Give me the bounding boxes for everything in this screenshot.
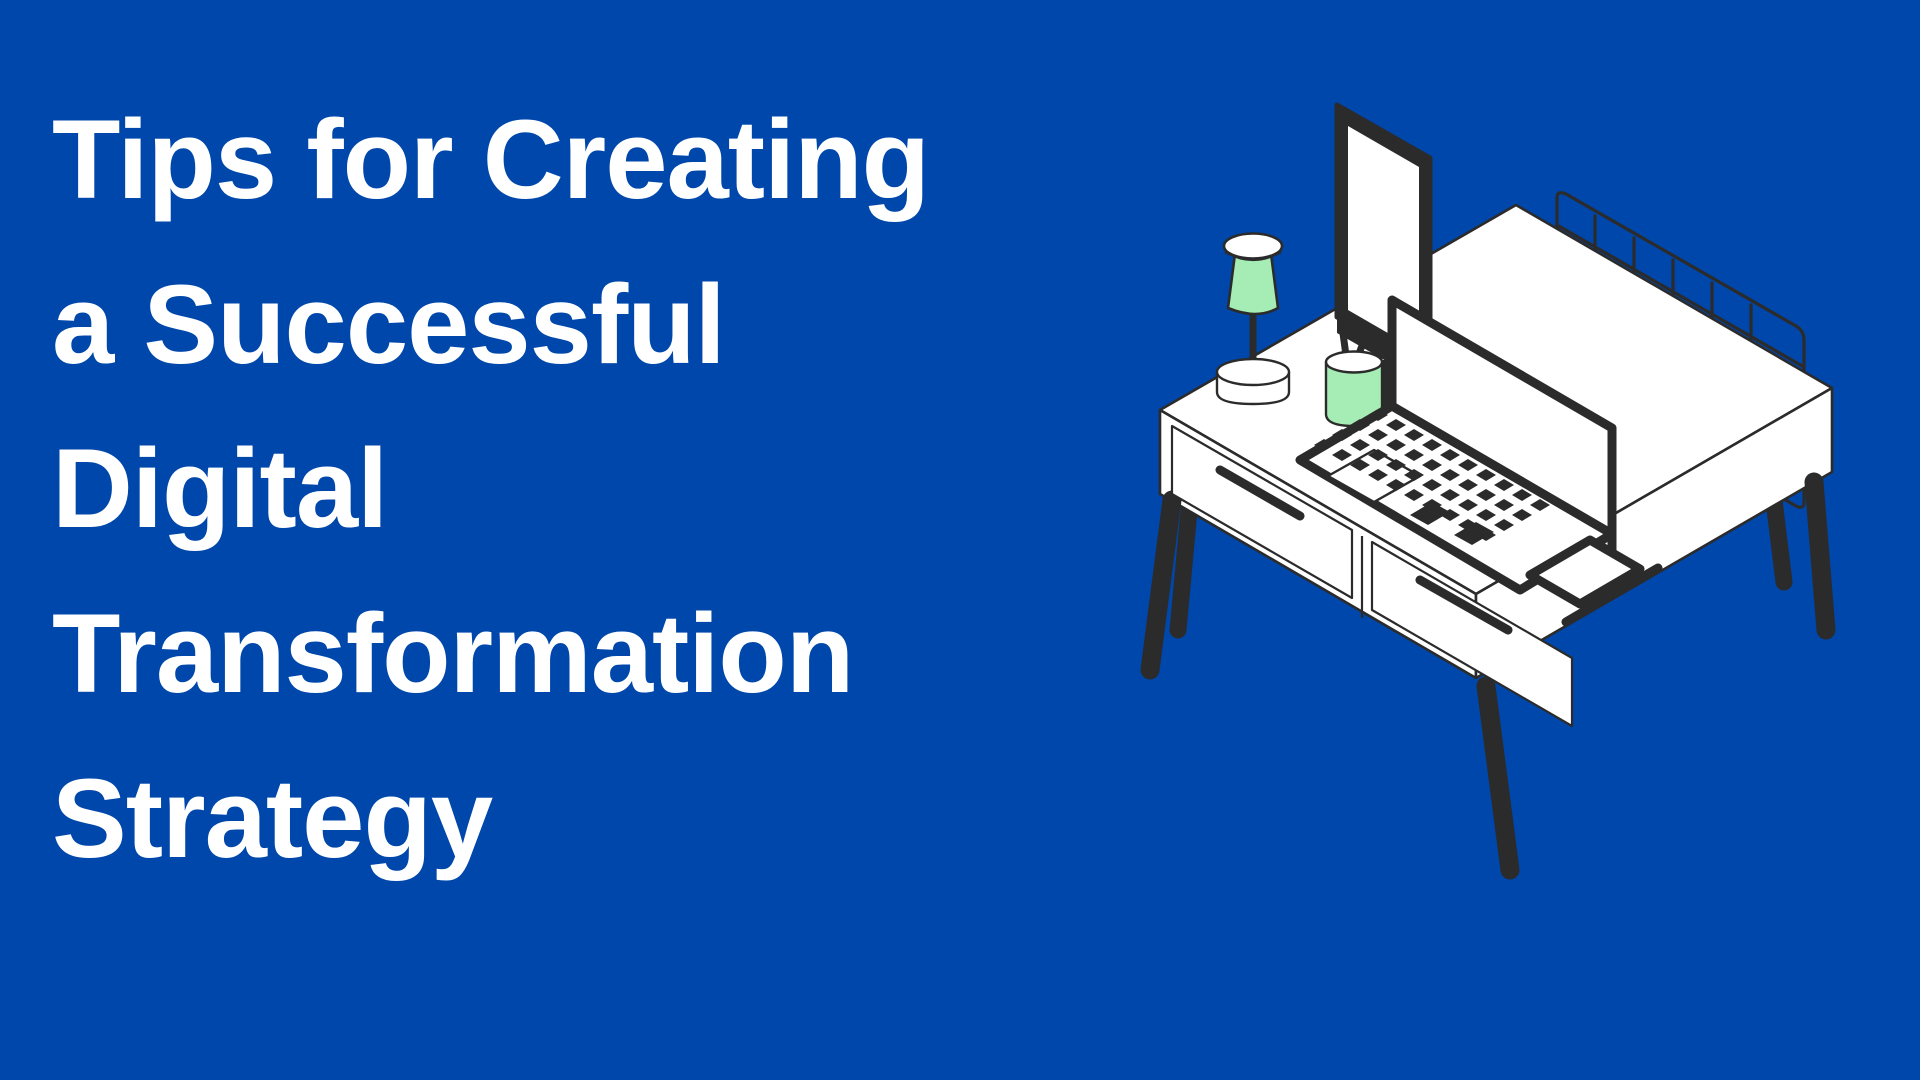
desk-leg-back-left xyxy=(1178,500,1190,630)
desk-leg-front-left xyxy=(1150,500,1172,670)
desk-lamp xyxy=(1217,234,1289,405)
desk-workspace-illustration xyxy=(1120,70,1920,1020)
page-title: Tips for Creating a Successful Digital T… xyxy=(52,78,1152,901)
banner-canvas: Tips for Creating a Successful Digital T… xyxy=(0,0,1920,1080)
desk-leg-front-center xyxy=(1486,686,1510,870)
illustration-svg xyxy=(1120,70,1920,1020)
desk-leg-front-right xyxy=(1814,482,1826,630)
